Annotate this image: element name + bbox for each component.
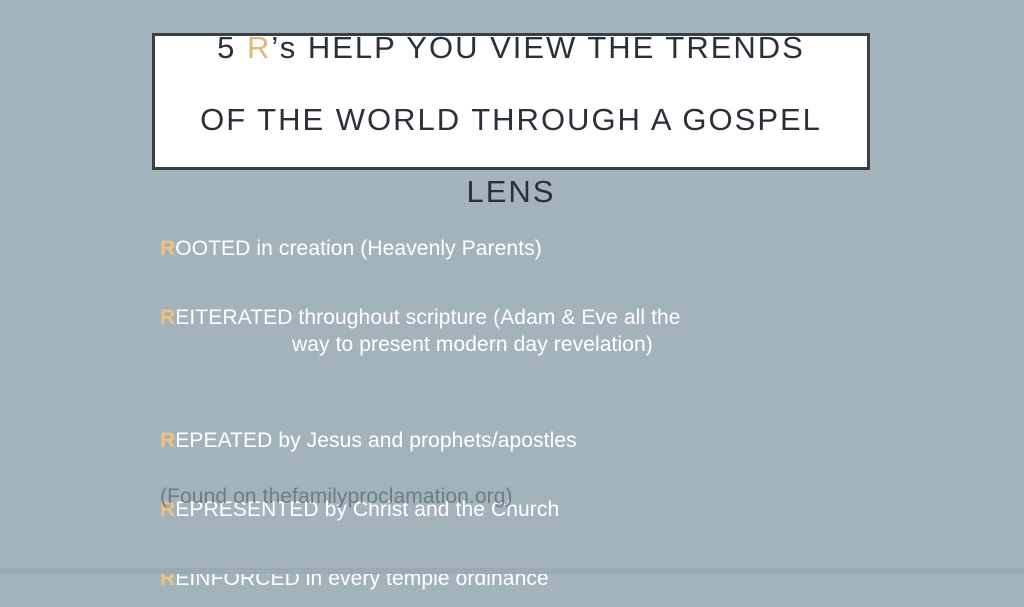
- title-prefix: 5: [217, 30, 247, 65]
- points-list: ROOTED in creation (Heavenly Parents) RE…: [160, 208, 920, 607]
- list-item-lead-letter: R: [160, 237, 175, 260]
- list-item-lead-letter: R: [160, 429, 175, 452]
- source-note: (Found on thefamilyproclamation.org): [160, 484, 513, 510]
- list-item: REITERATED throughout scripture (Adam & …: [160, 277, 920, 385]
- title-line-1: 5 R’s HELP YOU VIEW THE TRENDS: [217, 30, 805, 65]
- slide-canvas: 5 R’s HELP YOU VIEW THE TRENDS OF THE WO…: [0, 0, 1024, 574]
- list-item-continuation: way to present modern day revelation): [292, 331, 920, 358]
- list-item-text: OOTED in creation (Heavenly Parents): [175, 237, 542, 260]
- page-title: 5 R’s HELP YOU VIEW THE TRENDS OF THE WO…: [186, 0, 836, 210]
- list-item: ROOTED in creation (Heavenly Parents): [160, 208, 920, 262]
- slide-bottom-edge: [0, 568, 1024, 574]
- title-suffix: ’s HELP YOU VIEW THE TRENDS: [271, 30, 805, 65]
- list-item-lead-letter: R: [160, 306, 175, 329]
- title-line-2: OF THE WORLD THROUGH A GOSPEL: [200, 102, 822, 137]
- list-item: REPEATED by Jesus and prophets/apostles: [160, 400, 920, 454]
- list-item-text: EPEATED by Jesus and prophets/apostles: [175, 429, 576, 452]
- list-item: REINFORCED in every temple ordinance: [160, 538, 920, 592]
- title-line-3: LENS: [467, 174, 556, 209]
- list-item-text: EITERATED throughout scripture (Adam & E…: [175, 306, 680, 329]
- title-box: 5 R’s HELP YOU VIEW THE TRENDS OF THE WO…: [152, 33, 870, 170]
- title-accent-letter: R: [247, 30, 271, 65]
